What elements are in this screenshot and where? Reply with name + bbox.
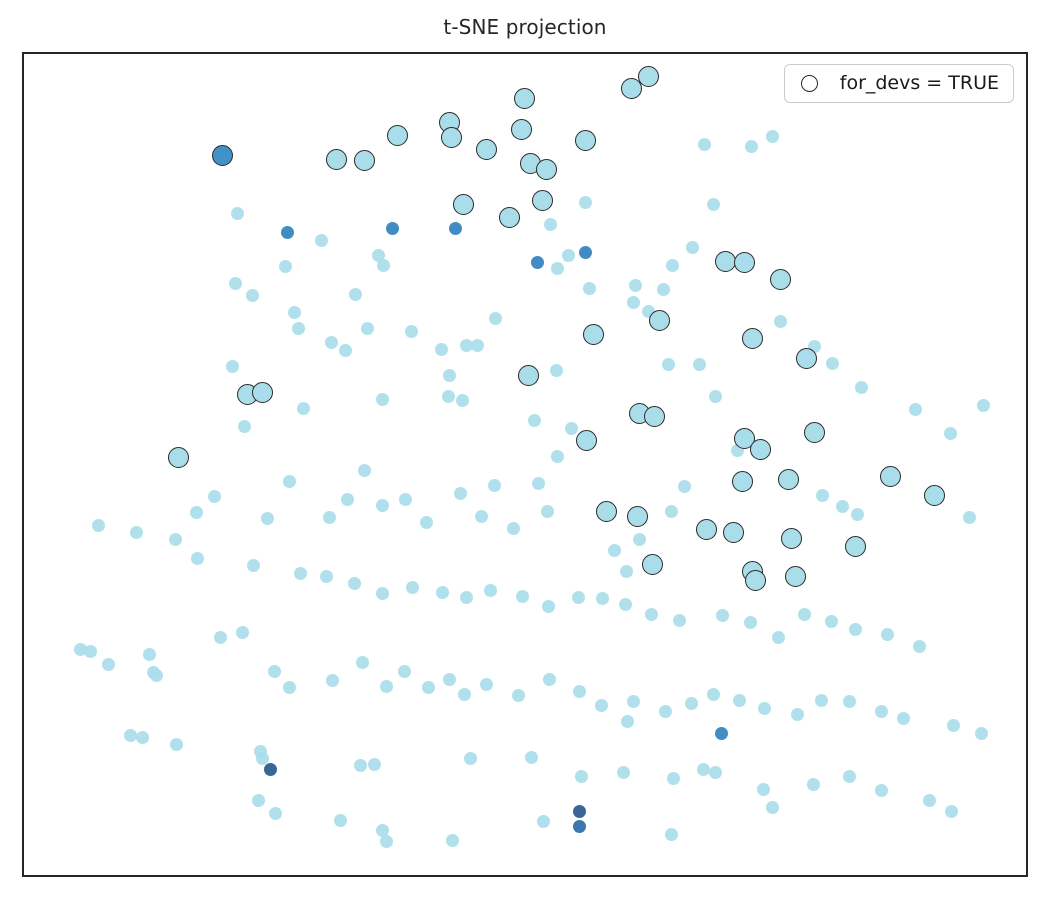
scatter-point <box>268 665 281 678</box>
scatter-point <box>766 130 779 143</box>
scatter-point <box>471 339 484 352</box>
scatter-point <box>897 712 910 725</box>
scatter-point <box>550 364 563 377</box>
scatter-point <box>325 336 338 349</box>
scatter-point <box>288 306 301 319</box>
scatter-point <box>376 393 389 406</box>
legend-entry-label: for_devs = TRUE <box>840 73 999 94</box>
scatter-point <box>356 656 369 669</box>
scatter-point-highlighted <box>880 466 901 487</box>
scatter-point-highlighted <box>518 365 539 386</box>
scatter-point <box>715 727 728 740</box>
scatter-point <box>619 598 632 611</box>
scatter-point <box>475 510 488 523</box>
scatter-point <box>405 325 418 338</box>
scatter-point <box>460 591 473 604</box>
scatter-point <box>281 226 294 239</box>
scatter-point <box>489 312 502 325</box>
scatter-point-highlighted <box>576 430 597 451</box>
scatter-point <box>772 631 785 644</box>
scatter-point <box>815 694 828 707</box>
scatter-point <box>621 715 634 728</box>
scatter-point <box>377 259 390 272</box>
scatter-point-highlighted <box>649 310 670 331</box>
scatter-point <box>947 719 960 732</box>
scatter-point <box>532 477 545 490</box>
scatter-point <box>909 403 922 416</box>
scatter-point <box>231 207 244 220</box>
scatter-point <box>665 828 678 841</box>
scatter-point <box>913 640 926 653</box>
scatter-point <box>617 766 630 779</box>
scatter-point <box>629 279 642 292</box>
scatter-point <box>516 590 529 603</box>
scatter-point <box>923 794 936 807</box>
scatter-point <box>376 587 389 600</box>
scatter-point <box>975 727 988 740</box>
scatter-point <box>849 623 862 636</box>
scatter-point-highlighted <box>785 566 806 587</box>
scatter-point <box>645 608 658 621</box>
scatter-point <box>326 674 339 687</box>
scatter-point <box>525 751 538 764</box>
scatter-point <box>528 414 541 427</box>
scatter-point-highlighted <box>742 328 763 349</box>
scatter-point <box>944 427 957 440</box>
scatter-point <box>543 673 556 686</box>
scatter-point <box>551 450 564 463</box>
scatter-point <box>464 752 477 765</box>
scatter-point <box>657 283 670 296</box>
scatter-point <box>579 246 592 259</box>
scatter-point <box>150 669 163 682</box>
scatter-point-highlighted <box>723 522 744 543</box>
scatter-point <box>442 390 455 403</box>
page-title: t-SNE projection <box>0 14 1050 40</box>
scatter-point <box>191 552 204 565</box>
scatter-point <box>758 702 771 715</box>
scatter-point <box>757 783 770 796</box>
scatter-point <box>124 729 137 742</box>
scatter-point <box>836 500 849 513</box>
scatter-point-highlighted <box>778 469 799 490</box>
scatter-point <box>627 695 640 708</box>
scatter-point <box>246 289 259 302</box>
scatter-point <box>435 343 448 356</box>
scatter-point <box>399 493 412 506</box>
scatter-point <box>354 759 367 772</box>
scatter-point-highlighted <box>354 150 375 171</box>
scatter-point <box>376 499 389 512</box>
scatter-point <box>745 140 758 153</box>
scatter-point <box>264 763 277 776</box>
scatter-point-highlighted <box>770 269 791 290</box>
scatter-point <box>620 565 633 578</box>
scatter-point <box>791 708 804 721</box>
scatter-point-highlighted <box>575 130 596 151</box>
scatter-point <box>573 685 586 698</box>
scatter-point <box>551 262 564 275</box>
scatter-point-highlighted <box>924 485 945 506</box>
scatter-point <box>544 218 557 231</box>
scatter-point <box>380 835 393 848</box>
scatter-point <box>484 584 497 597</box>
scatter-point <box>269 807 282 820</box>
scatter-point-highlighted <box>387 125 408 146</box>
scatter-plot-area <box>24 54 1026 875</box>
scatter-point-highlighted <box>499 207 520 228</box>
scatter-point <box>659 705 672 718</box>
scatter-point-highlighted <box>644 406 665 427</box>
scatter-point <box>881 628 894 641</box>
scatter-point <box>102 658 115 671</box>
scatter-point <box>349 288 362 301</box>
scatter-point <box>480 678 493 691</box>
scatter-point-highlighted <box>511 119 532 140</box>
scatter-point <box>678 480 691 493</box>
scatter-point <box>686 241 699 254</box>
scatter-point <box>627 296 640 309</box>
scatter-point <box>294 567 307 580</box>
scatter-point <box>685 697 698 710</box>
scatter-point <box>977 399 990 412</box>
scatter-point <box>170 738 183 751</box>
scatter-point <box>361 322 374 335</box>
scatter-point-highlighted <box>638 66 659 87</box>
scatter-point <box>766 801 779 814</box>
scatter-point-highlighted <box>732 471 753 492</box>
scatter-point <box>596 592 609 605</box>
scatter-point <box>348 577 361 590</box>
scatter-point <box>454 487 467 500</box>
scatter-point <box>315 234 328 247</box>
scatter-point <box>449 222 462 235</box>
scatter-point <box>190 506 203 519</box>
scatter-point <box>697 763 710 776</box>
scatter-point <box>562 249 575 262</box>
scatter-point <box>488 479 501 492</box>
scatter-point <box>256 752 269 765</box>
scatter-point <box>341 493 354 506</box>
scatter-point <box>136 731 149 744</box>
scatter-point <box>208 490 221 503</box>
scatter-point <box>283 681 296 694</box>
scatter-point-highlighted <box>804 422 825 443</box>
scatter-point <box>698 138 711 151</box>
scatter-point <box>807 778 820 791</box>
scatter-point <box>236 626 249 639</box>
scatter-point <box>573 805 586 818</box>
scatter-point <box>283 475 296 488</box>
scatter-point <box>226 360 239 373</box>
scatter-point <box>420 516 433 529</box>
scatter-point <box>667 772 680 785</box>
scatter-point <box>875 784 888 797</box>
scatter-point-highlighted <box>536 159 557 180</box>
scatter-point <box>816 489 829 502</box>
scatter-point <box>458 688 471 701</box>
scatter-point-highlighted <box>845 536 866 557</box>
scatter-point <box>169 533 182 546</box>
scatter-point <box>825 615 838 628</box>
scatter-point <box>398 665 411 678</box>
chart-legend[interactable]: for_devs = TRUE <box>784 64 1014 103</box>
scatter-point <box>279 260 292 273</box>
scatter-point <box>633 533 646 546</box>
scatter-point <box>583 282 596 295</box>
scatter-point <box>229 277 242 290</box>
scatter-point <box>238 420 251 433</box>
scatter-point <box>843 770 856 783</box>
scatter-point <box>456 394 469 407</box>
scatter-point <box>733 694 746 707</box>
scatter-point <box>92 519 105 532</box>
scatter-point <box>443 369 456 382</box>
scatter-point-highlighted <box>514 88 535 109</box>
scatter-point <box>386 222 399 235</box>
scatter-point-highlighted <box>168 447 189 468</box>
scatter-point <box>130 526 143 539</box>
scatter-point <box>963 511 976 524</box>
scatter-point-highlighted <box>476 139 497 160</box>
scatter-point <box>826 357 839 370</box>
scatter-point <box>247 559 260 572</box>
scatter-point <box>744 616 757 629</box>
tsne-scatter-figure: t-SNE projection for_devs = TRUE <box>0 0 1050 900</box>
scatter-point <box>323 511 336 524</box>
scatter-point <box>380 680 393 693</box>
scatter-point-highlighted <box>212 145 233 166</box>
scatter-point-highlighted <box>583 324 604 345</box>
scatter-point <box>334 814 347 827</box>
scatter-point <box>665 505 678 518</box>
scatter-point <box>143 648 156 661</box>
scatter-point <box>707 198 720 211</box>
scatter-point <box>422 681 435 694</box>
plot-frame: for_devs = TRUE <box>22 52 1028 877</box>
scatter-point-highlighted <box>326 149 347 170</box>
scatter-point <box>855 381 868 394</box>
scatter-point <box>292 322 305 335</box>
scatter-point <box>542 600 555 613</box>
scatter-point <box>945 805 958 818</box>
scatter-point-highlighted <box>441 127 462 148</box>
scatter-point <box>716 609 729 622</box>
scatter-point <box>531 256 544 269</box>
scatter-point <box>565 422 578 435</box>
scatter-point <box>573 820 586 833</box>
scatter-point <box>443 673 456 686</box>
scatter-point <box>214 631 227 644</box>
scatter-point-highlighted <box>750 439 771 460</box>
scatter-point-highlighted <box>796 348 817 369</box>
circle-outline-icon <box>801 75 818 92</box>
scatter-point <box>875 705 888 718</box>
scatter-point <box>406 581 419 594</box>
scatter-point <box>662 358 675 371</box>
scatter-point <box>709 390 722 403</box>
scatter-point <box>798 608 811 621</box>
scatter-point <box>575 770 588 783</box>
scatter-point-highlighted <box>532 190 553 211</box>
scatter-point-highlighted <box>745 570 766 591</box>
scatter-point-highlighted <box>453 194 474 215</box>
scatter-point-highlighted <box>781 528 802 549</box>
scatter-point <box>595 699 608 712</box>
scatter-point <box>707 688 720 701</box>
scatter-point <box>320 570 333 583</box>
scatter-point <box>843 695 856 708</box>
scatter-point <box>339 344 352 357</box>
scatter-point <box>436 586 449 599</box>
scatter-point <box>537 815 550 828</box>
scatter-point <box>673 614 686 627</box>
scatter-point-highlighted <box>696 519 717 540</box>
scatter-point <box>693 358 706 371</box>
scatter-point <box>579 196 592 209</box>
scatter-point <box>446 834 459 847</box>
scatter-point-highlighted <box>734 252 755 273</box>
scatter-point <box>572 591 585 604</box>
scatter-point <box>541 505 554 518</box>
scatter-point-highlighted <box>596 501 617 522</box>
scatter-point <box>252 794 265 807</box>
scatter-point <box>297 402 310 415</box>
scatter-point <box>851 508 864 521</box>
scatter-point-highlighted <box>252 382 273 403</box>
scatter-point-highlighted <box>642 554 663 575</box>
scatter-point <box>507 522 520 535</box>
scatter-point-highlighted <box>627 506 648 527</box>
scatter-point <box>709 766 722 779</box>
scatter-point <box>512 689 525 702</box>
scatter-point <box>774 315 787 328</box>
scatter-point <box>84 645 97 658</box>
scatter-point <box>368 758 381 771</box>
scatter-point <box>608 544 621 557</box>
scatter-point <box>261 512 274 525</box>
scatter-point <box>358 464 371 477</box>
scatter-point <box>666 259 679 272</box>
